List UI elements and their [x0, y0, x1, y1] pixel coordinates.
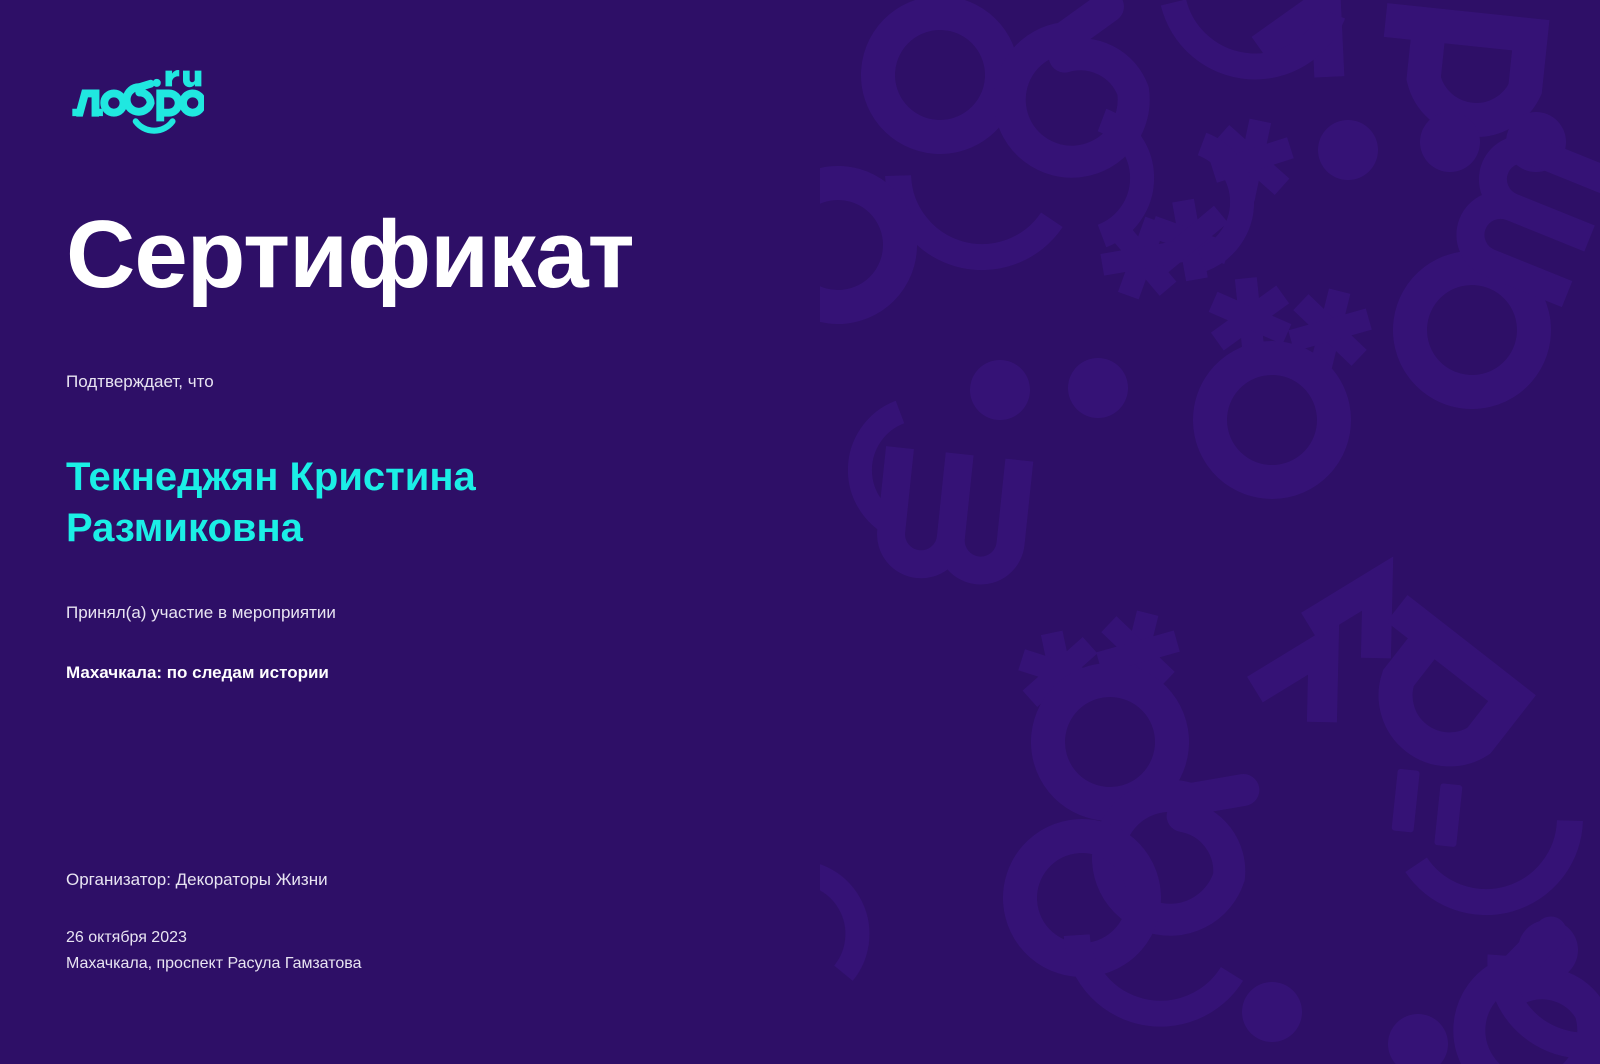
event-date: 26 октября 2023: [66, 925, 361, 951]
logo-wordmark-icon: [76, 84, 202, 122]
participation-label: Принял(а) участие в мероприятии: [66, 603, 336, 623]
certificate-canvas: Сертификат Подтверждает, что Текнеджян К…: [0, 0, 1600, 1064]
confirms-label: Подтверждает, что: [66, 372, 214, 392]
event-name: Махачкала: по следам истории: [66, 663, 726, 683]
logo-tld-icon: [153, 70, 202, 87]
dobro-ru-logo[interactable]: [64, 58, 204, 134]
decorative-pattern: [820, 0, 1600, 1064]
organizer-line: Организатор: Декораторы Жизни: [66, 870, 328, 890]
page-title: Сертификат: [66, 205, 634, 306]
logo-smile-icon: [136, 121, 173, 130]
certificate-content: Сертификат Подтверждает, что Текнеджян К…: [66, 0, 826, 1064]
event-location: Махачкала, проспект Расула Гамзатова: [66, 951, 361, 977]
event-meta: 26 октября 2023 Махачкала, проспект Расу…: [66, 925, 361, 977]
recipient-name: Текнеджян Кристина Размиковна: [66, 452, 686, 554]
